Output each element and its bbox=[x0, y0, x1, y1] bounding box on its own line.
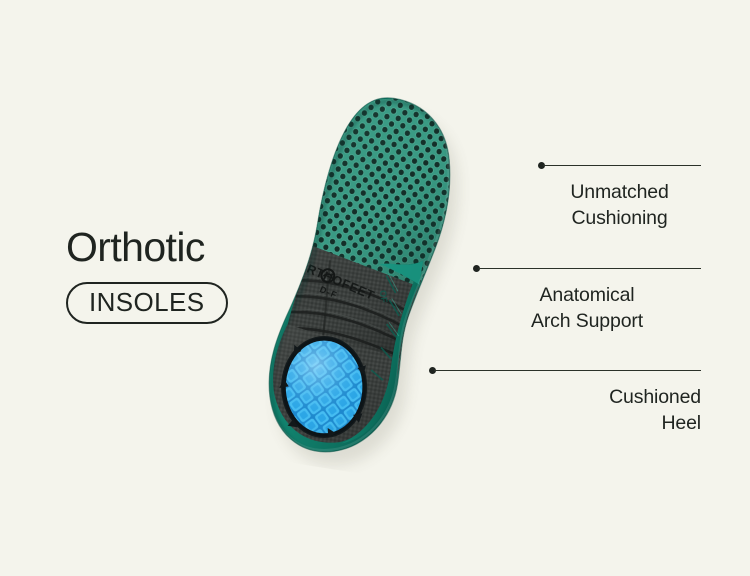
product-feature-banner: Orthotic INSOLES bbox=[0, 0, 750, 576]
badge-label: INSOLES bbox=[89, 287, 205, 317]
callout-leader-line bbox=[538, 161, 701, 170]
status-badge: INSOLES bbox=[66, 282, 228, 324]
callout-line bbox=[478, 268, 701, 269]
feature-label: Anatomical Arch Support bbox=[473, 282, 701, 334]
feature-callout-cushioned-heel: Cushioned Heel bbox=[429, 366, 701, 436]
callout-leader-line bbox=[473, 264, 701, 273]
wall-emboss-text: OF bbox=[378, 290, 390, 304]
feature-callout-anatomical-arch-support: Anatomical Arch Support bbox=[473, 264, 701, 334]
feature-label: Unmatched Cushioning bbox=[538, 179, 701, 231]
callout-line bbox=[543, 165, 701, 166]
callout-leader-line bbox=[429, 366, 701, 375]
feature-callout-unmatched-cushioning: Unmatched Cushioning bbox=[538, 161, 701, 231]
feature-label: Cushioned Heel bbox=[429, 384, 701, 436]
callout-line bbox=[434, 370, 701, 371]
